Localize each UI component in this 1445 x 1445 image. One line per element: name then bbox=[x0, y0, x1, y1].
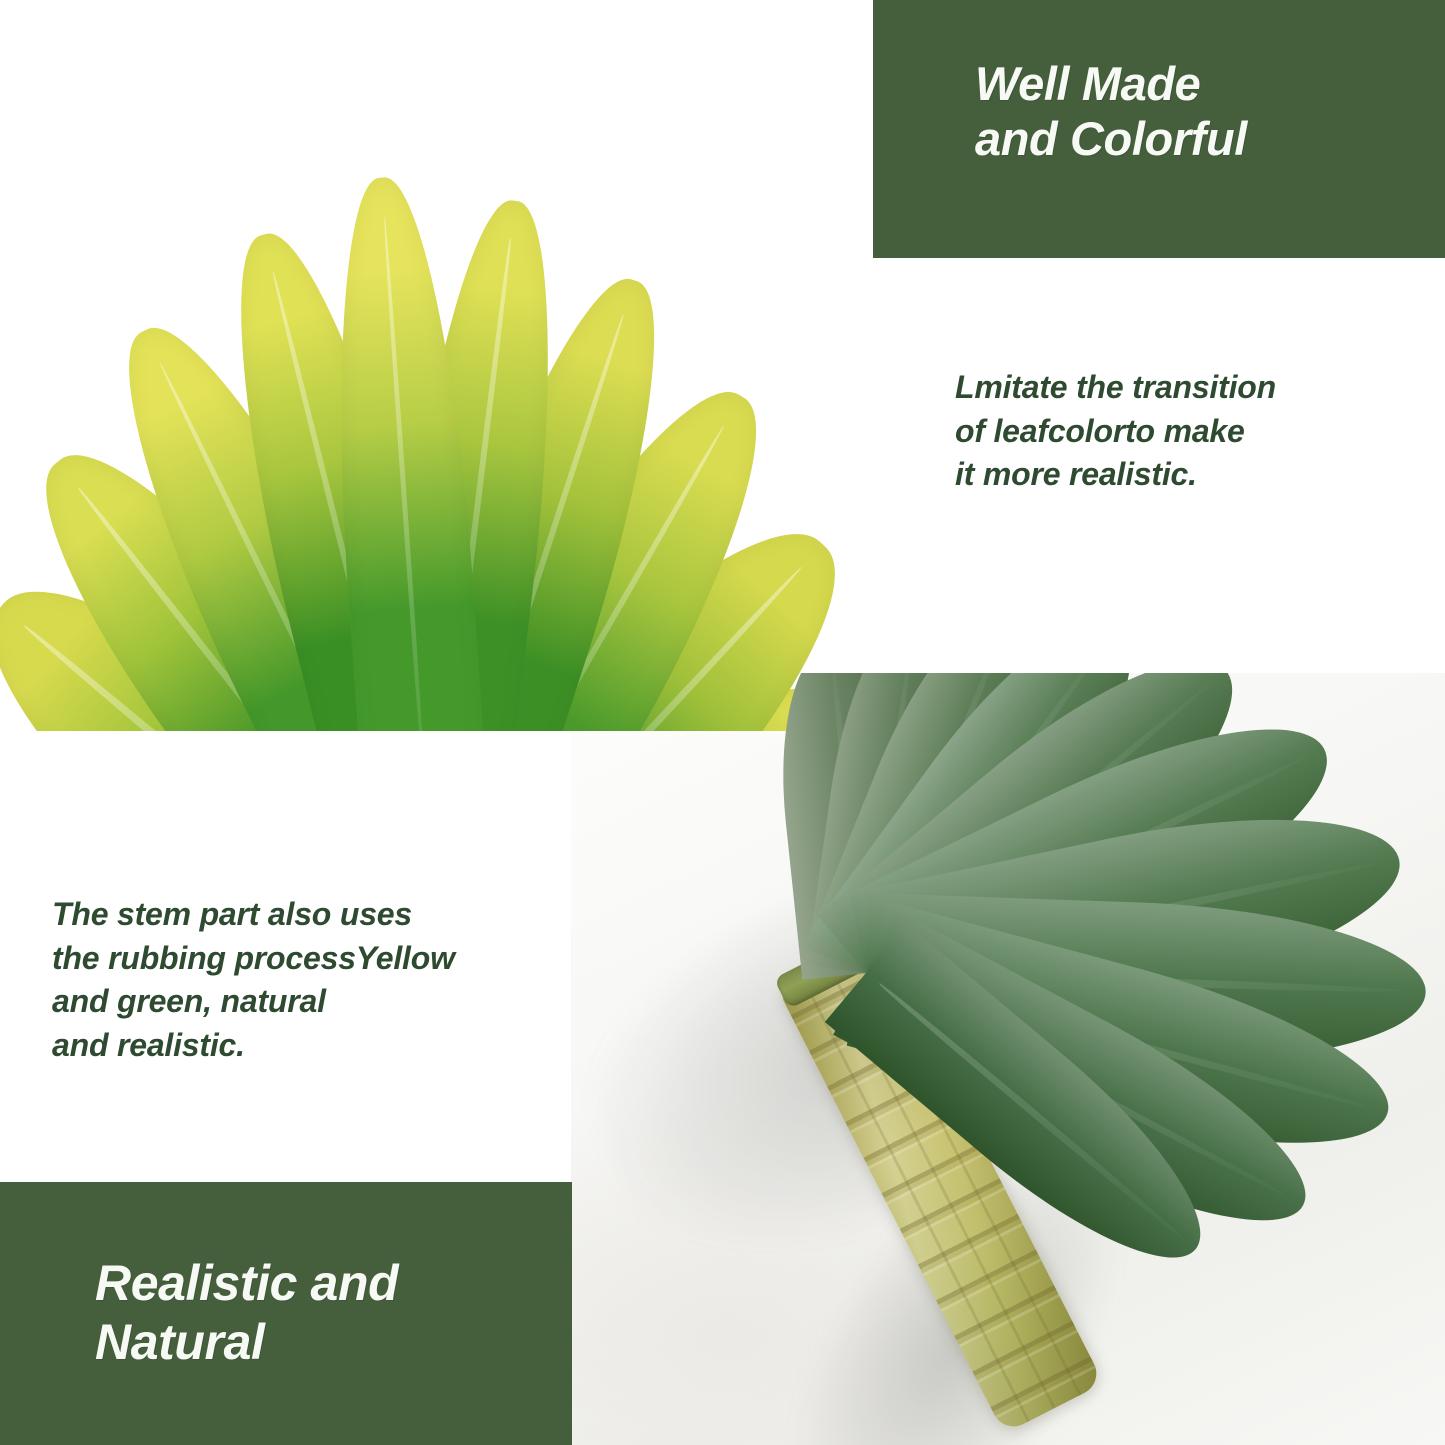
agave-rosette-illustration bbox=[0, 0, 866, 731]
banner-top-heading: Well Made and Colorful bbox=[975, 56, 1247, 167]
product-photo-leaves bbox=[0, 0, 866, 731]
caption-stem-rubbing-process: The stem part also uses the rubbing proc… bbox=[52, 893, 572, 1067]
product-photo-stem bbox=[571, 673, 1445, 1445]
banner-realistic-natural: Realistic and Natural bbox=[0, 1182, 572, 1445]
banner-bottom-heading: Realistic and Natural bbox=[95, 1254, 398, 1372]
banner-well-made: Well Made and Colorful bbox=[873, 0, 1445, 258]
caption-leaf-color-transition: Lmitate the transition of leafcolorto ma… bbox=[955, 366, 1395, 497]
product-infographic: Well Made and Colorful Lmitate the trans… bbox=[0, 0, 1445, 1445]
